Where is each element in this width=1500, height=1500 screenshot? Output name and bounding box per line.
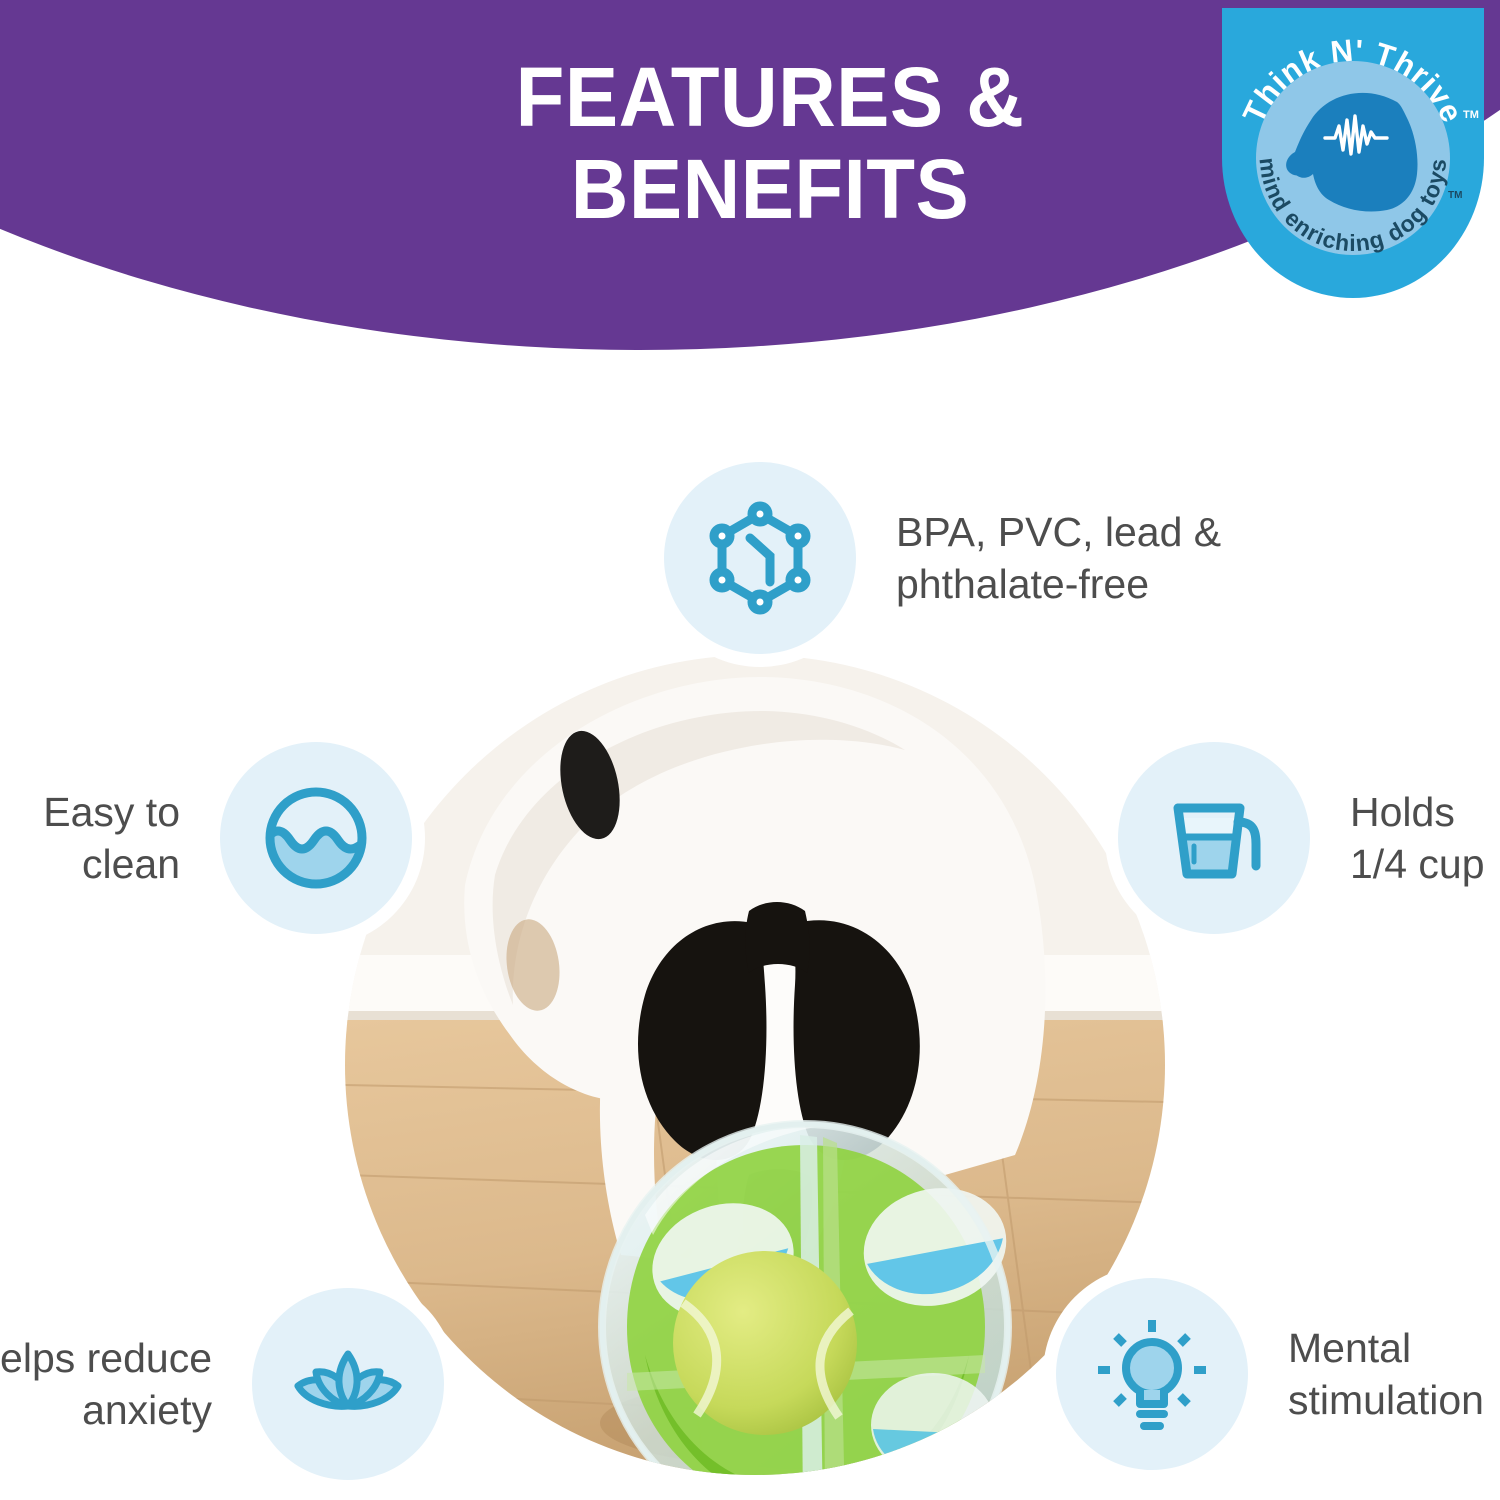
water-wave-circle-icon xyxy=(220,742,412,934)
molecule-hexagon-icon xyxy=(664,462,856,654)
feature-label-holds: Holds 1/4 cup xyxy=(1310,786,1500,891)
feature-easy-to-clean: Easy to clean xyxy=(0,742,412,934)
feature-helps-reduce-anxiety: Helps reduce anxiety xyxy=(0,1288,444,1480)
feature-label-bpa: BPA, PVC, lead & phthalate-free xyxy=(856,506,1316,611)
product-photo xyxy=(345,655,1165,1475)
lightbulb-icon xyxy=(1056,1278,1248,1470)
badge-bottom-trademark: TM xyxy=(1448,190,1462,201)
features-benefits-infographic: FEATURES & BENEFITS Think N' xyxy=(0,0,1500,1500)
feature-label-anxiety: Helps reduce anxiety xyxy=(0,1332,252,1437)
feature-bpa-pvc-lead-phthalate-free: BPA, PVC, lead & phthalate-free xyxy=(664,462,1316,654)
feature-mental-stimulation: Mental stimulation xyxy=(1056,1278,1500,1470)
brand-badge: Think N' Thrive mind enriching dog toys … xyxy=(1222,8,1484,298)
page-title-line-1: FEATURES & xyxy=(352,52,1188,144)
lotus-flower-icon xyxy=(252,1288,444,1480)
page-title-line-2: BENEFITS xyxy=(352,144,1188,236)
badge-top-trademark: TM xyxy=(1463,109,1479,121)
feature-label-mental: Mental stimulation xyxy=(1248,1322,1500,1427)
feature-label-clean: Easy to clean xyxy=(0,786,220,891)
measuring-cup-icon xyxy=(1118,742,1310,934)
feature-holds-quarter-cup: Holds 1/4 cup xyxy=(1118,742,1500,934)
page-title: FEATURES & BENEFITS xyxy=(352,52,1188,235)
